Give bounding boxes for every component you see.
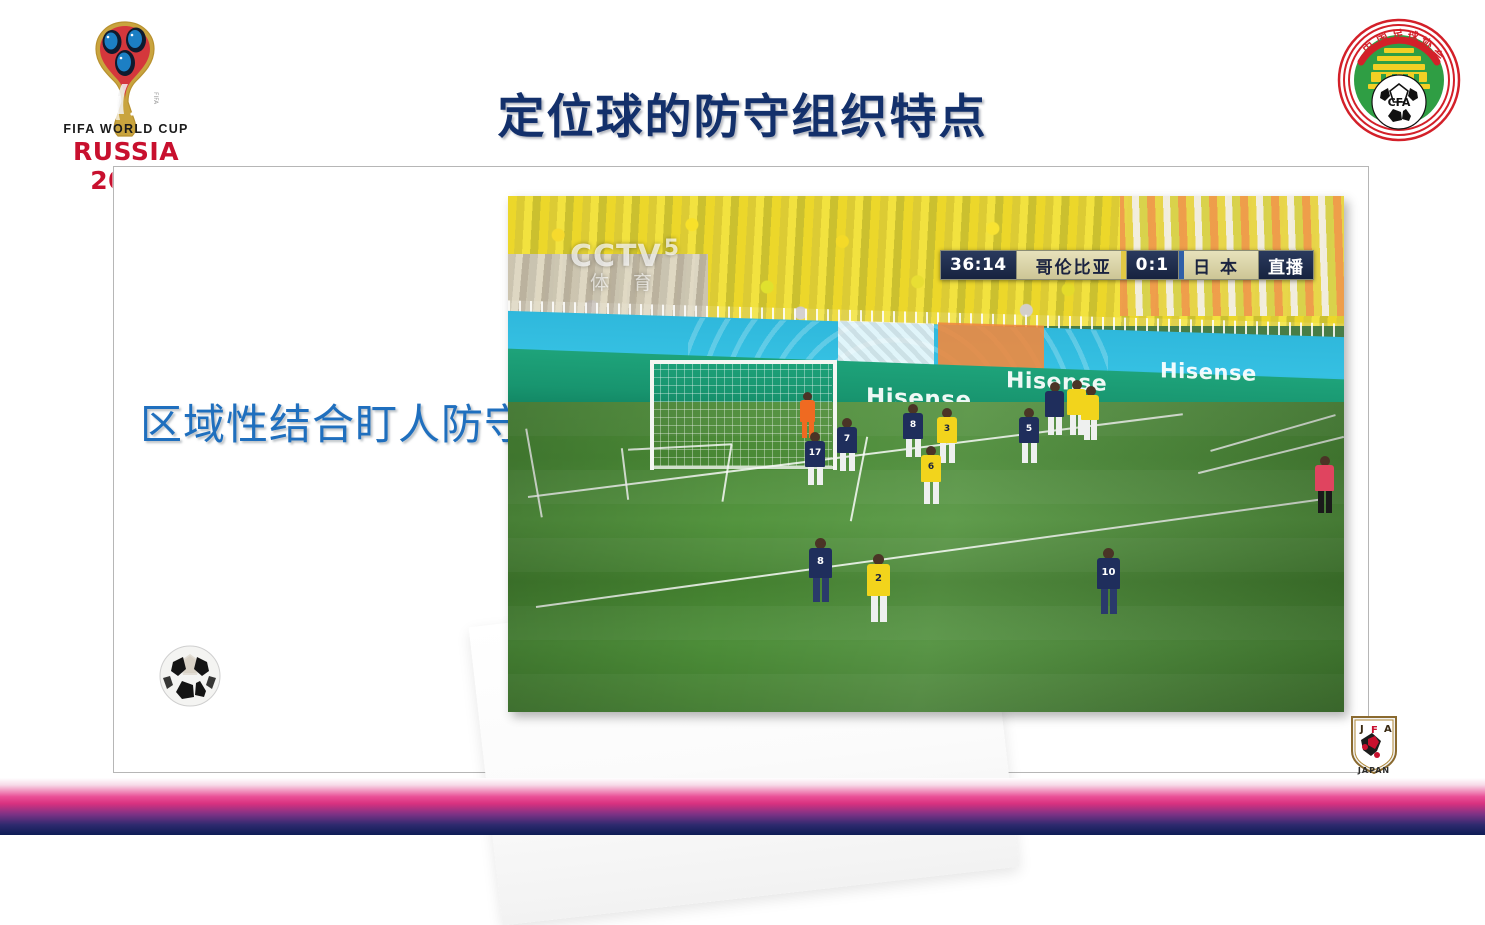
- jersey-number: 2: [867, 573, 890, 584]
- goal-post-right: [833, 360, 837, 470]
- content-frame: 区域性结合盯人防守: [113, 166, 1369, 773]
- match-clock: 36:14: [940, 250, 1017, 280]
- jersey-number: 8: [809, 556, 832, 567]
- jersey-number: 5: [1019, 424, 1039, 434]
- live-badge: 直播: [1258, 250, 1314, 280]
- japan-football-association-logo: J A F JAPAN: [1346, 713, 1402, 775]
- cctv-channel-subtitle: 体 育: [590, 268, 661, 295]
- scoreboard-overlay: 36:14 哥伦比亚 0:1 日 本 直播: [940, 250, 1314, 280]
- goal-post-left: [650, 360, 654, 470]
- jfa-country-label: JAPAN: [1357, 766, 1390, 775]
- goal-crossbar: [650, 360, 837, 364]
- svg-text:A: A: [1384, 724, 1392, 735]
- match-video-still[interactable]: Hisense Hisense Hisense Hisense: [508, 196, 1344, 712]
- home-team-name: 哥伦比亚: [1027, 250, 1121, 280]
- jersey-number: 7: [837, 434, 857, 444]
- jersey-number: 17: [805, 448, 825, 458]
- away-team-name: 日 本: [1184, 250, 1248, 280]
- soccer-ball-icon: [154, 638, 226, 710]
- jersey-number: 10: [1097, 567, 1120, 578]
- jersey-number: 6: [921, 462, 941, 472]
- bottom-gradient-bar: [0, 778, 1485, 835]
- svg-text:J: J: [1359, 724, 1364, 735]
- match-score: 0:1: [1126, 250, 1179, 280]
- scorebug-arrow-right: [1248, 250, 1258, 280]
- slide-root: FIFA FIFA WORLD CUP RUSSIA 2018: [0, 0, 1485, 835]
- ad-board-text-4: Hisense: [1160, 358, 1257, 386]
- cctv-channel-number: 5: [664, 236, 680, 261]
- slide-caption: 区域性结合盯人防守: [140, 391, 527, 452]
- page-title: 定位球的防守组织特点: [0, 78, 1485, 147]
- scorebug-arrow-left: [1017, 250, 1027, 280]
- jersey-number: 8: [903, 420, 923, 430]
- jersey-number: 3: [937, 424, 957, 434]
